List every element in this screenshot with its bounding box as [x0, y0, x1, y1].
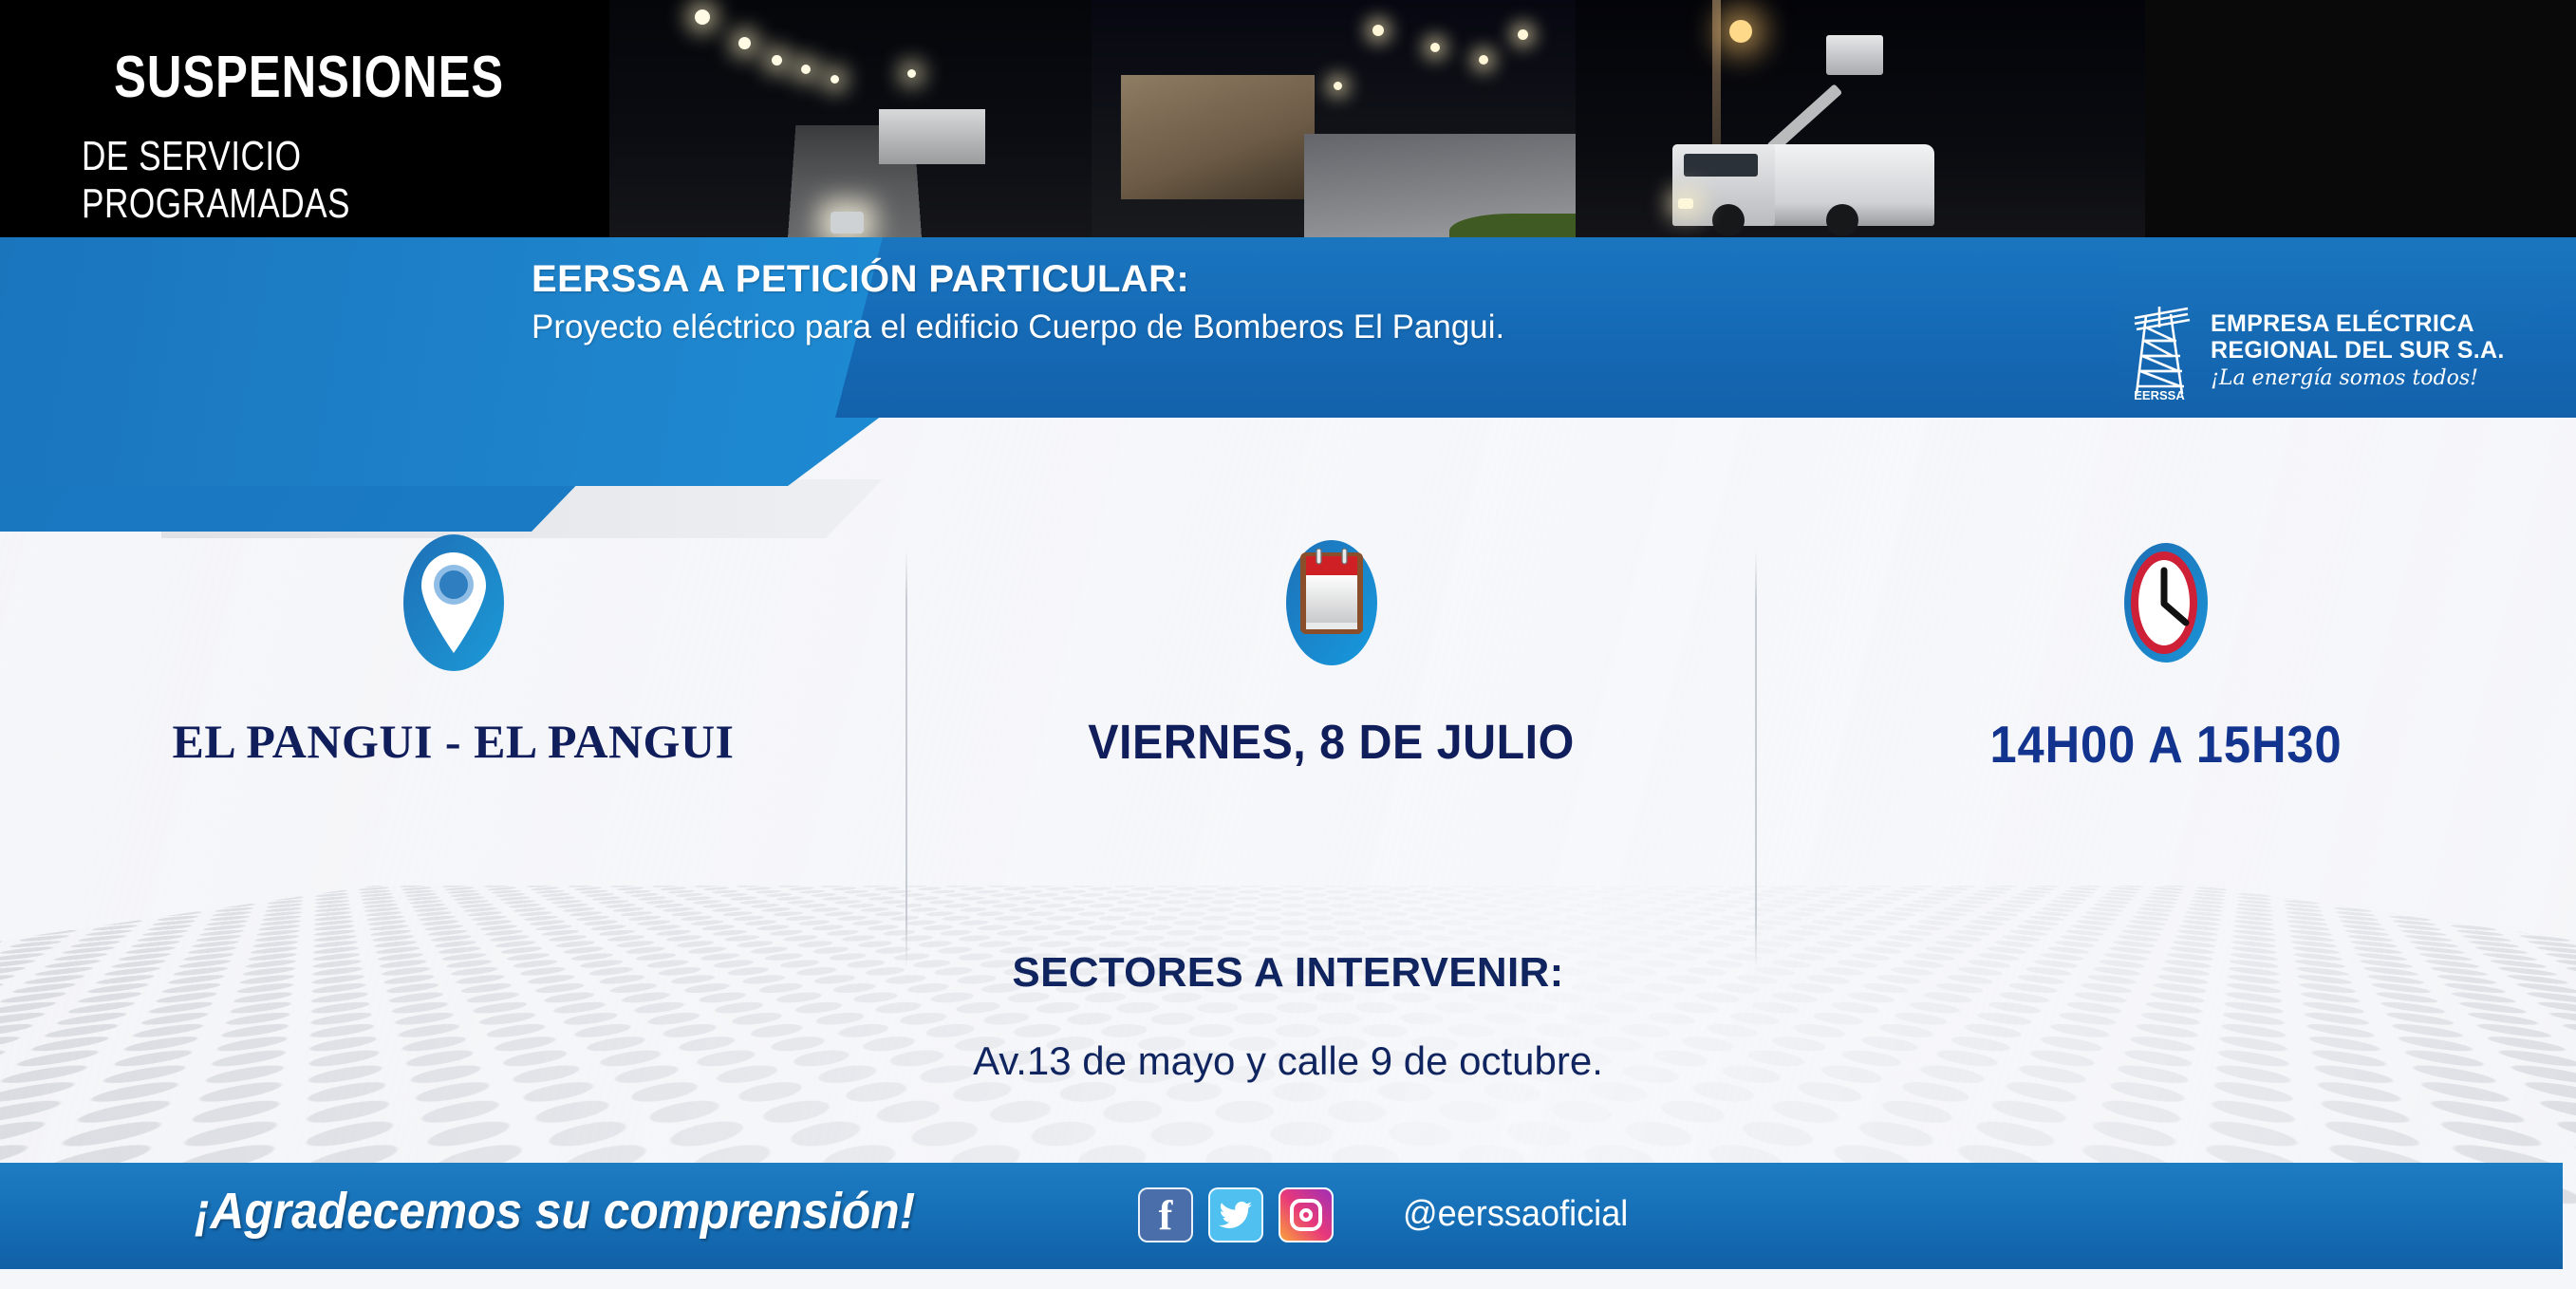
column-date: VIERNES, 8 DE JULIO — [906, 532, 1756, 770]
column-location: EL PANGUI - EL PANGUI — [0, 532, 906, 769]
logo-name-line1: EMPRESA ELÉCTRICA — [2211, 310, 2505, 337]
sectors-section: SECTORES A INTERVENIR: Av.13 de mayo y c… — [0, 949, 2576, 1084]
social-icons: f — [1138, 1187, 1334, 1242]
page-subtitle: DE SERVICIO PROGRAMADAS — [82, 133, 504, 228]
location-label: EL PANGUI - EL PANGUI — [0, 714, 906, 769]
instagram-lens — [1299, 1208, 1313, 1222]
twitter-bird-glyph — [1219, 1201, 1253, 1229]
clock-icon — [1756, 532, 2576, 674]
banner-subtitle: Proyecto eléctrico para el edificio Cuer… — [532, 308, 1504, 346]
facebook-icon[interactable]: f — [1138, 1187, 1193, 1242]
photo-street-lights-2 — [1092, 0, 1576, 249]
page-title: SUSPENSIONES — [114, 44, 504, 111]
logo-slogan: ¡La energía somos todos! — [2211, 367, 2505, 391]
poster-root: SUSPENSIONES DE SERVICIO PROGRAMADAS EER… — [0, 0, 2576, 1289]
sectors-title: SECTORES A INTERVENIR: — [0, 949, 2576, 997]
location-pin-icon — [0, 532, 906, 674]
svg-text:EERSSA: EERSSA — [2134, 388, 2185, 402]
banner-title: EERSSA A PETICIÓN PARTICULAR: — [532, 258, 1504, 301]
date-label: VIERNES, 8 DE JULIO — [927, 714, 1734, 770]
calendar-icon — [906, 532, 1756, 674]
transmission-tower-icon: EERSSA — [2121, 299, 2197, 402]
time-label: 14H00 A 15H30 — [1789, 714, 2544, 775]
instagram-icon[interactable] — [1279, 1187, 1334, 1242]
sectors-body: Av.13 de mayo y calle 9 de octubre. — [0, 1038, 2576, 1084]
column-time: 14H00 A 15H30 — [1756, 532, 2576, 775]
info-columns: EL PANGUI - EL PANGUI — [0, 532, 2576, 968]
poster-title-box: SUSPENSIONES DE SERVICIO PROGRAMADAS — [0, 0, 609, 249]
footer-bar: ¡Agradecemos su comprensión! f @eerssaof… — [0, 1163, 2563, 1269]
photo-utility-truck — [1576, 0, 2145, 249]
facebook-glyph: f — [1159, 1191, 1173, 1240]
twitter-icon[interactable] — [1208, 1187, 1263, 1242]
logo-name-line2: REGIONAL DEL SUR S.A. — [2211, 337, 2505, 364]
eerssa-logo: EERSSA EMPRESA ELÉCTRICA REGIONAL DEL SU… — [2121, 299, 2505, 402]
thanks-message: ¡Agradecemos su comprensión! — [195, 1182, 915, 1241]
banner-text-group: EERSSA A PETICIÓN PARTICULAR: Proyecto e… — [532, 258, 1504, 346]
photo-street-lights-1 — [607, 0, 1092, 249]
social-handle: @eerssaoficial — [1403, 1194, 1628, 1235]
